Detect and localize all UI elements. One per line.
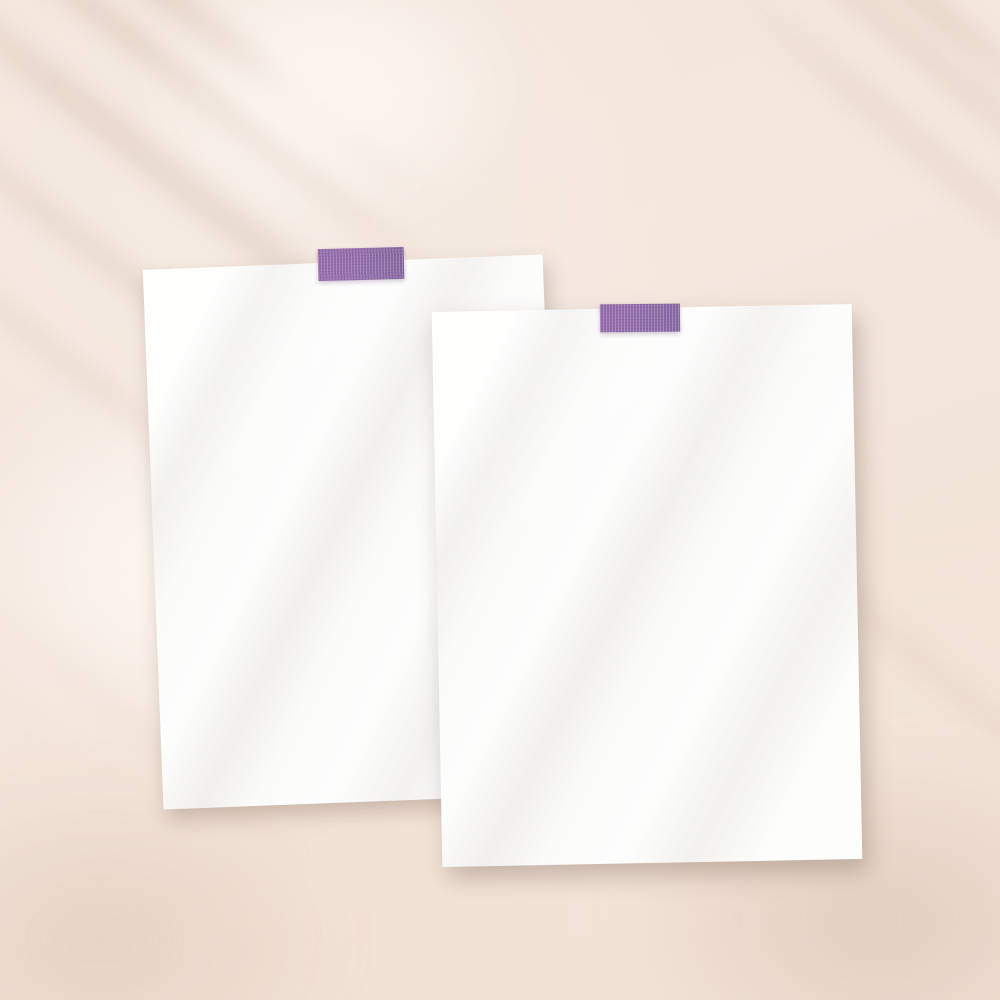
- washi-tape-left: [318, 247, 405, 281]
- headline-block: [0, 0, 1000, 92]
- reward-chart-title: [144, 279, 544, 294]
- responsibility-checklist-content: [432, 304, 863, 867]
- reward-chart-table: [144, 279, 544, 294]
- reward-chart-child-name: [144, 279, 544, 294]
- washi-tape-right: [600, 304, 680, 333]
- responsibility-checklist-sheet[interactable]: [432, 304, 863, 867]
